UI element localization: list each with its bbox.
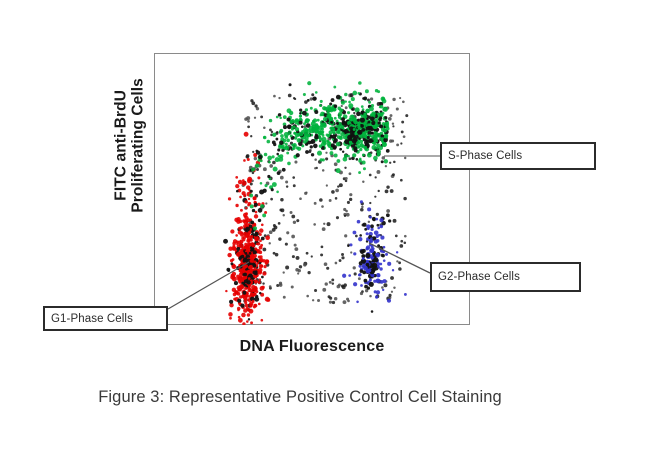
callout-s-phase-cells[interactable]: S-Phase Cells bbox=[440, 142, 596, 170]
callout-s-phase-label: S-Phase Cells bbox=[448, 150, 522, 162]
x-axis-label: DNA Fluorescence bbox=[154, 338, 470, 356]
y-axis-label: FITC anti-BrdU Proliferating Cells bbox=[113, 5, 148, 285]
callout-g1-phase-cells[interactable]: G1-Phase Cells bbox=[43, 306, 168, 331]
callout-g2-phase-label: G2-Phase Cells bbox=[438, 271, 520, 283]
callout-g1-phase-label: G1-Phase Cells bbox=[51, 313, 133, 325]
figure-container: FITC anti-BrdU Proliferating Cells DNA F… bbox=[0, 0, 650, 461]
y-axis-label-line2: Proliferating Cells bbox=[130, 5, 147, 285]
callout-g2-phase-cells[interactable]: G2-Phase Cells bbox=[430, 262, 581, 292]
figure-caption: Figure 3: Representative Positive Contro… bbox=[0, 388, 600, 407]
y-axis-label-line1: FITC anti-BrdU bbox=[113, 5, 130, 285]
scatter-plot bbox=[154, 53, 470, 325]
